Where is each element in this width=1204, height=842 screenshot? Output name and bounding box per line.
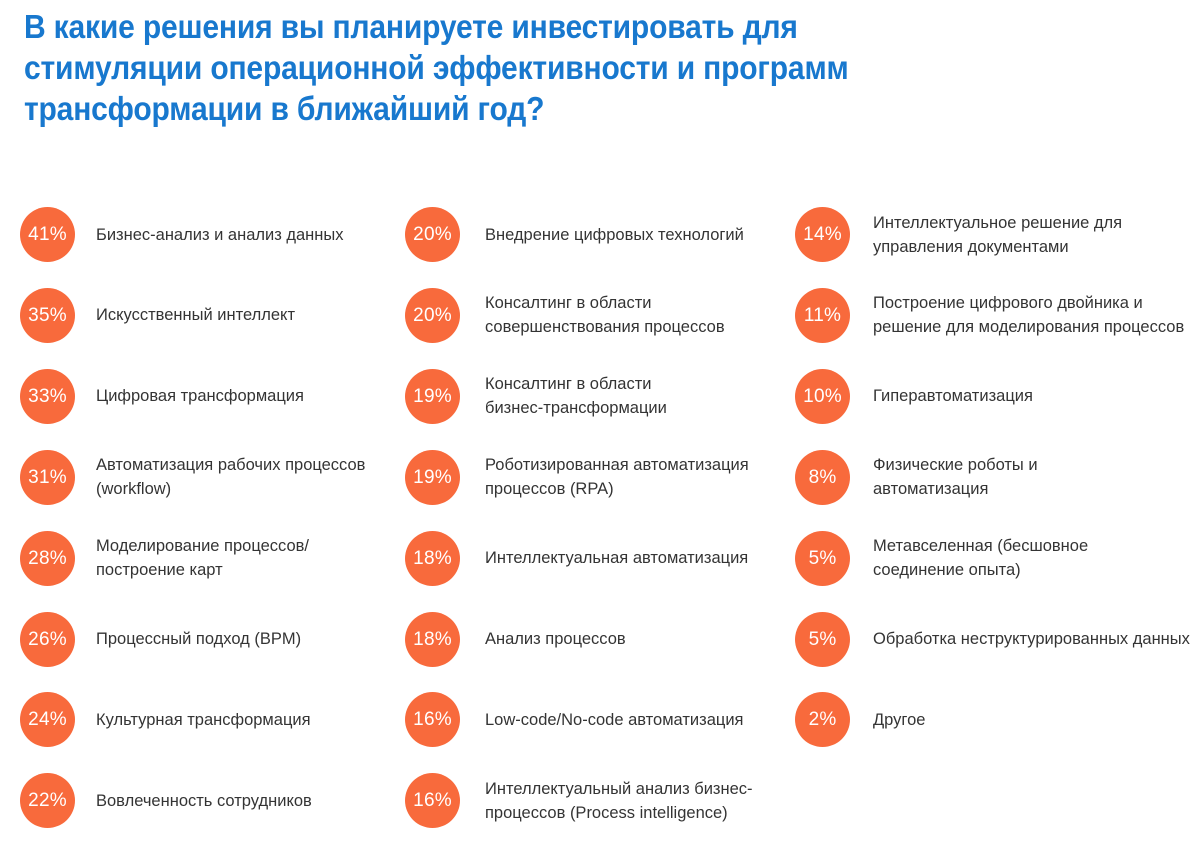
stat-label: Цифровая трансформация	[96, 384, 395, 408]
stat-label: Автоматизация рабочих процессов (workflo…	[96, 453, 395, 501]
stat-row: 14%Интеллектуальное решение для управлен…	[795, 207, 1195, 262]
percent-badge: 24%	[20, 692, 75, 747]
stat-row: 18%Интеллектуальная автоматизация	[405, 531, 785, 586]
percent-badge: 19%	[405, 369, 460, 424]
stat-row: 26%Процессный подход (BPM)	[20, 612, 395, 667]
percent-badge: 8%	[795, 450, 850, 505]
percent-badge: 41%	[20, 207, 75, 262]
percent-badge: 28%	[20, 531, 75, 586]
stat-row: 31%Автоматизация рабочих процессов (work…	[20, 450, 395, 505]
stat-label: Построение цифрового двойника и решение …	[873, 291, 1195, 339]
stat-label: Искусственный интеллект	[96, 303, 395, 327]
stat-row: 28%Моделирование процессов/ построение к…	[20, 531, 395, 586]
percent-badge: 2%	[795, 692, 850, 747]
stat-label: Интеллектуальная автоматизация	[485, 546, 785, 570]
stat-row: 41%Бизнес-анализ и анализ данных	[20, 207, 395, 262]
percent-badge: 31%	[20, 450, 75, 505]
stat-row: 20%Внедрение цифровых технологий	[405, 207, 785, 262]
percent-badge: 16%	[405, 692, 460, 747]
stat-label: Моделирование процессов/ построение карт	[96, 534, 395, 582]
stat-columns: 41%Бизнес-анализ и анализ данных35%Искус…	[0, 195, 1204, 842]
stat-label: Консалтинг в области совершенствования п…	[485, 291, 785, 339]
stat-label: Метавселенная (бесшовное соединение опыт…	[873, 534, 1195, 582]
stat-label: Интеллектуальный анализ бизнес- процессо…	[485, 777, 785, 825]
percent-badge: 20%	[405, 207, 460, 262]
stat-row: 20%Консалтинг в области совершенствовани…	[405, 288, 785, 343]
stat-label: Low-code/No-code автоматизация	[485, 708, 785, 732]
percent-badge: 5%	[795, 612, 850, 667]
stat-row: 24%Культурная трансформация	[20, 692, 395, 747]
percent-badge: 35%	[20, 288, 75, 343]
stat-row: 8%Физические роботы и автоматизация	[795, 450, 1195, 505]
stat-row: 19%Роботизированная автоматизация процес…	[405, 450, 785, 505]
percent-badge: 16%	[405, 773, 460, 828]
stat-row: 18%Анализ процессов	[405, 612, 785, 667]
stat-row: 35%Искусственный интеллект	[20, 288, 395, 343]
percent-badge: 18%	[405, 612, 460, 667]
stat-row: 11%Построение цифрового двойника и решен…	[795, 288, 1195, 343]
percent-badge: 33%	[20, 369, 75, 424]
stat-label: Культурная трансформация	[96, 708, 395, 732]
stat-label: Вовлеченность сотрудников	[96, 789, 395, 813]
stat-label: Бизнес-анализ и анализ данных	[96, 223, 395, 247]
stat-label: Другое	[873, 708, 1195, 732]
stat-label: Роботизированная автоматизация процессов…	[485, 453, 785, 501]
stat-row: 2%Другое	[795, 692, 1195, 747]
stat-row: 16%Интеллектуальный анализ бизнес- проце…	[405, 773, 785, 828]
percent-badge: 22%	[20, 773, 75, 828]
percent-badge: 5%	[795, 531, 850, 586]
stat-label: Физические роботы и автоматизация	[873, 453, 1195, 501]
stat-label: Внедрение цифровых технологий	[485, 223, 785, 247]
stat-row: 33%Цифровая трансформация	[20, 369, 395, 424]
percent-badge: 19%	[405, 450, 460, 505]
stat-label: Процессный подход (BPM)	[96, 627, 395, 651]
page-title: В какие решения вы планируете инвестиров…	[24, 6, 925, 129]
stat-row: 19%Консалтинг в области бизнес-трансформ…	[405, 369, 785, 424]
percent-badge: 14%	[795, 207, 850, 262]
stat-label: Интеллектуальное решение для управления …	[873, 211, 1195, 259]
stat-label: Обработка неструктурированных данных	[873, 627, 1195, 651]
percent-badge: 20%	[405, 288, 460, 343]
stat-row: 5%Метавселенная (бесшовное соединение оп…	[795, 531, 1195, 586]
stat-row: 22%Вовлеченность сотрудников	[20, 773, 395, 828]
percent-badge: 18%	[405, 531, 460, 586]
stat-label: Анализ процессов	[485, 627, 785, 651]
percent-badge: 11%	[795, 288, 850, 343]
stat-label: Консалтинг в области бизнес-трансформаци…	[485, 372, 785, 420]
percent-badge: 10%	[795, 369, 850, 424]
stat-row: 5%Обработка неструктурированных данных	[795, 612, 1195, 667]
stat-row: 10%Гиперавтоматизация	[795, 369, 1195, 424]
percent-badge: 26%	[20, 612, 75, 667]
stat-row: 16%Low-code/No-code автоматизация	[405, 692, 785, 747]
stat-label: Гиперавтоматизация	[873, 384, 1195, 408]
